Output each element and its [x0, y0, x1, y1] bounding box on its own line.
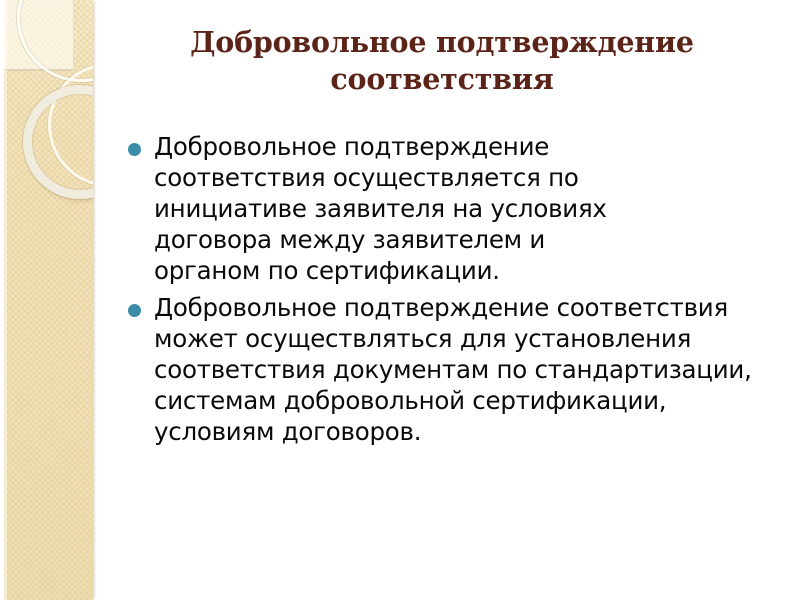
bullet-marker-wrap — [128, 132, 154, 156]
list-item: Добровольное подтверждение соответствия … — [128, 132, 778, 287]
bullet-marker-wrap — [128, 293, 154, 317]
slide-body: Добровольное подтверждение соответствия … — [128, 132, 778, 454]
list-item: Добровольное подтверждение соответствия … — [128, 293, 778, 448]
bullet-text: Добровольное подтверждение соответствия … — [154, 132, 654, 287]
bullet-dot-icon — [128, 143, 141, 156]
bullet-text: Добровольное подтверждение соответствия … — [154, 293, 766, 448]
presentation-slide: Добровольное подтверждение соответствия … — [0, 0, 800, 600]
bullet-dot-icon — [128, 304, 141, 317]
sidebar-left-highlight — [4, 0, 7, 600]
slide-title: Добровольное подтверждение соответствия — [118, 24, 766, 98]
decorative-sidebar — [4, 0, 93, 600]
